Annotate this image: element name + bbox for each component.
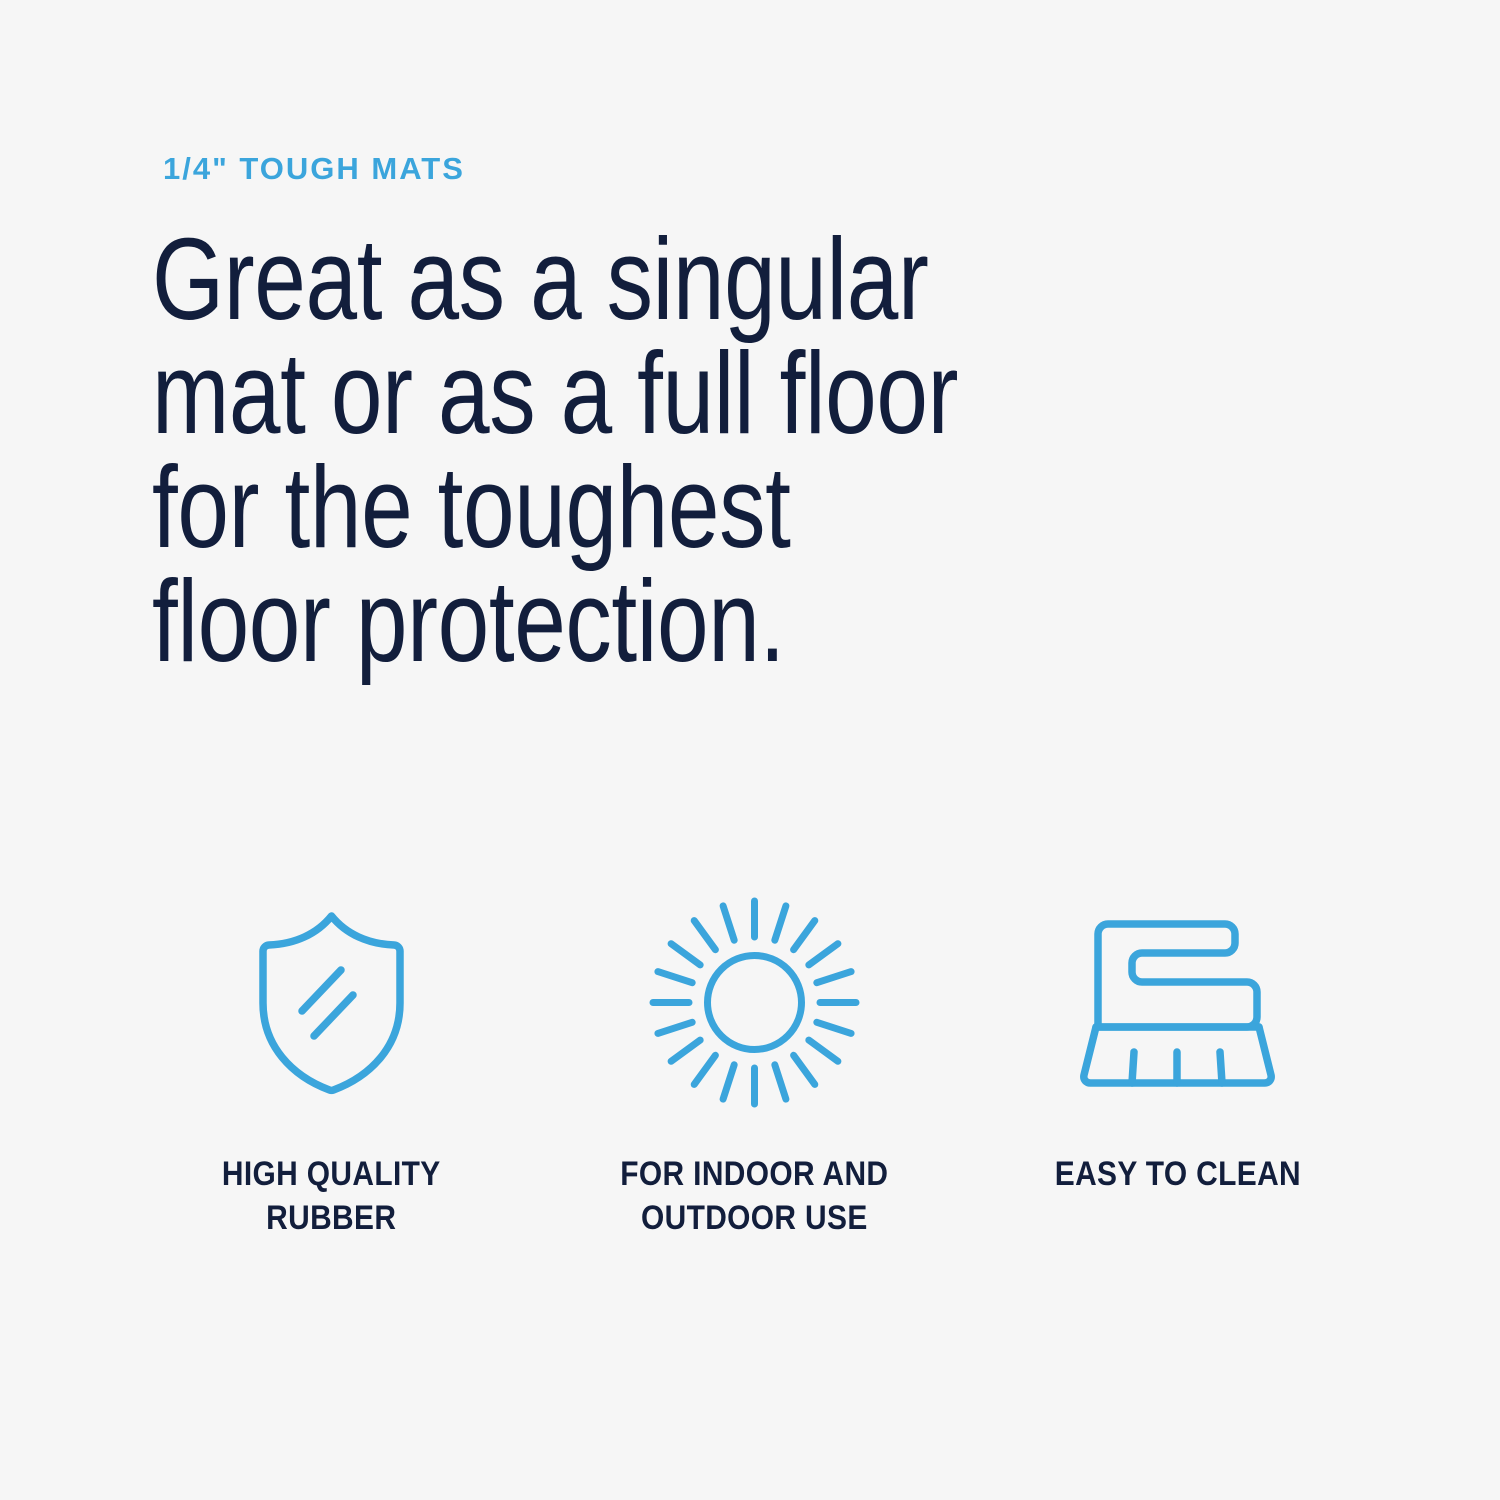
scrub-brush-icon xyxy=(1070,895,1285,1110)
eyebrow-label: 1/4" TOUGH MATS xyxy=(163,152,465,186)
feature-label-line-1: FOR INDOOR AND xyxy=(620,1152,888,1196)
feature-label-line-1: EASY TO CLEAN xyxy=(1054,1152,1300,1196)
feature-label-easy-to-clean: EASY TO CLEAN xyxy=(1054,1152,1300,1196)
feature-label-line-2: OUTDOOR USE xyxy=(620,1196,888,1240)
headline-line-3: for the toughest xyxy=(152,450,1000,564)
headline-line-2: mat or as a full floor xyxy=(152,336,1000,450)
feature-item-high-quality-rubber: HIGH QUALITY RUBBER xyxy=(120,895,543,1240)
page-title: Great as a singular mat or as a full flo… xyxy=(152,222,1212,678)
sun-icon xyxy=(647,895,862,1110)
feature-item-easy-to-clean: EASY TO CLEAN xyxy=(966,895,1389,1196)
feature-label-line-2: RUBBER xyxy=(222,1196,441,1240)
feature-item-indoor-outdoor: FOR INDOOR AND OUTDOOR USE xyxy=(543,895,966,1240)
product-feature-panel: 1/4" TOUGH MATS Great as a singular mat … xyxy=(0,0,1500,1500)
headline-line-1: Great as a singular xyxy=(152,222,1000,336)
feature-list: HIGH QUALITY RUBBER xyxy=(120,895,1390,1240)
shield-icon xyxy=(239,895,424,1110)
feature-label-indoor-outdoor: FOR INDOOR AND OUTDOOR USE xyxy=(620,1152,888,1240)
feature-label-line-1: HIGH QUALITY xyxy=(222,1152,441,1196)
headline-line-4: floor protection. xyxy=(152,564,1000,678)
feature-label-high-quality-rubber: HIGH QUALITY RUBBER xyxy=(222,1152,441,1240)
